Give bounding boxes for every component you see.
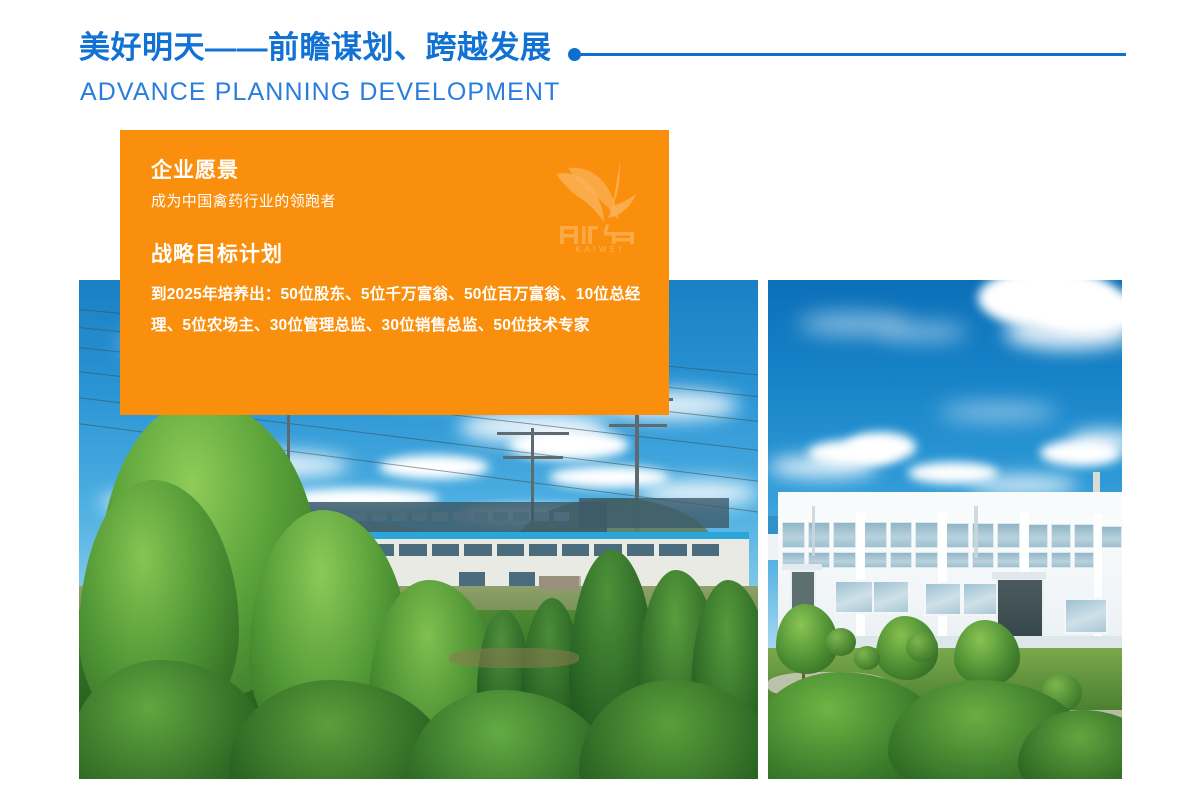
upper-window-strip (946, 552, 1020, 568)
building-pilaster (938, 512, 947, 642)
strategy-heading: 战略目标计划 (151, 242, 645, 267)
upper-window-strip (946, 523, 1020, 548)
page-header: 美好明天——前瞻谋划、跨越发展 ADVANCE PLANNING DEVELOP… (0, 0, 1200, 130)
upper-window-strip (864, 552, 938, 568)
ground-floor-window (834, 580, 874, 614)
trimmed-shrub (854, 646, 880, 670)
pylon-crossarm (609, 424, 667, 427)
upper-window-strip (864, 522, 938, 548)
page-subtitle-english: ADVANCE PLANNING DEVELOPMENT (80, 78, 560, 107)
downpipe (812, 506, 815, 556)
page-title: 美好明天——前瞻谋划、跨越发展 (79, 32, 552, 63)
strategy-text: 到2025年培养出：50位股东、5位千万富翁、50位百万富翁、10位总经理、5位… (151, 279, 645, 341)
trimmed-shrub (826, 628, 856, 656)
upper-window-strip (782, 522, 856, 548)
rear-workshop-east (579, 498, 729, 528)
door-canopy (992, 572, 1046, 579)
downpipe (974, 506, 978, 558)
upper-window-strip (1028, 524, 1094, 548)
small-shed (539, 576, 579, 590)
upper-window-strip (1028, 552, 1094, 568)
cloud (768, 456, 878, 478)
header-rule-line (578, 53, 1126, 56)
slide-page: 美好明天——前瞻谋划、跨越发展 ADVANCE PLANNING DEVELOP… (0, 0, 1200, 793)
pylon-crossarm (503, 456, 563, 459)
side-door-canopy (782, 564, 822, 570)
bare-soil-patch (449, 648, 579, 668)
ground-floor-window (872, 580, 910, 614)
vision-text: 成为中国禽药行业的领跑者 (151, 192, 645, 212)
ground-floor-window (924, 582, 962, 616)
pylon-crossarm (497, 432, 569, 435)
vision-strategy-panel: KAIWEI 企业愿景 成为中国禽药行业的领跑者 战略目标计划 到2025年培养… (120, 130, 669, 415)
upper-window-strip (1100, 526, 1122, 548)
panel-content: 企业愿景 成为中国禽药行业的领跑者 战略目标计划 到2025年培养出：50位股东… (151, 158, 645, 341)
building-parapet (778, 492, 1122, 518)
photo-office-building-exterior (768, 280, 1122, 779)
ground-floor-window (1064, 598, 1108, 634)
vision-heading: 企业愿景 (151, 158, 645, 183)
ground-floor-window (962, 582, 998, 616)
cloud (1004, 316, 1122, 350)
cloud (938, 404, 1058, 420)
building-pilaster (856, 512, 865, 642)
trimmed-shrub (906, 632, 938, 662)
cloud (878, 324, 968, 340)
